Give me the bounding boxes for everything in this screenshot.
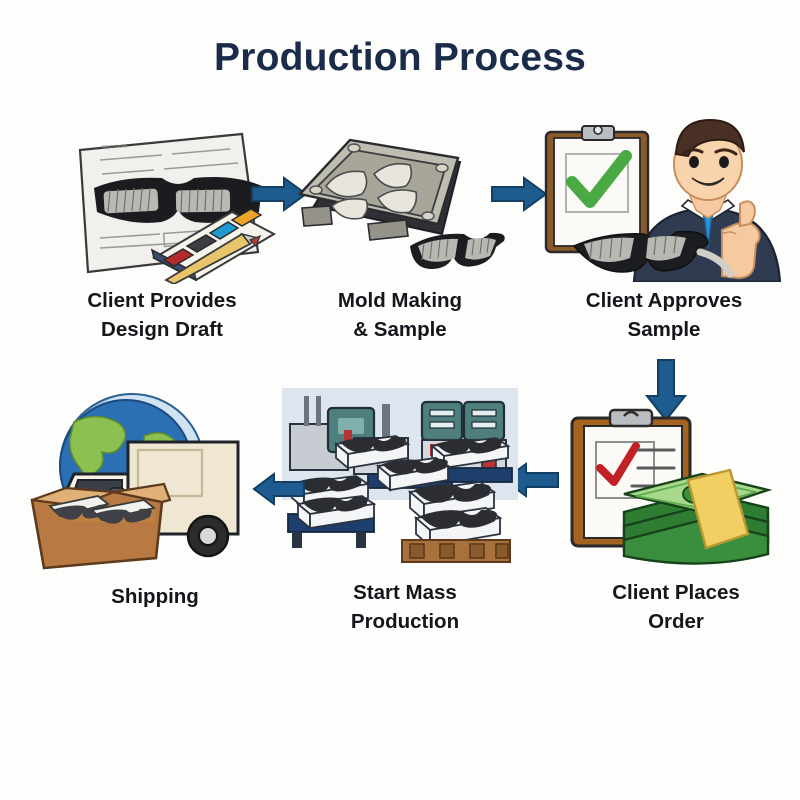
step-1-label-line1: Client Provides — [48, 286, 276, 315]
step-3-illustration — [530, 106, 792, 282]
step-4-illustration — [562, 408, 792, 568]
step-3-label-line1: Client Approves — [552, 286, 776, 315]
step-3-label: Client Approves Sample — [552, 286, 776, 344]
open-cardboard-box — [32, 484, 170, 568]
step-1-label-line2: Design Draft — [48, 315, 276, 344]
step-3-label-line2: Sample — [552, 315, 776, 344]
metal-mold-block — [300, 140, 460, 240]
step-6-label: Shipping — [52, 582, 258, 611]
step-5-label-line2: Production — [300, 607, 510, 636]
step-2-label-line1: Mold Making — [300, 286, 500, 315]
wooden-pallet — [402, 540, 510, 562]
step-4-label: Client Places Order — [570, 578, 782, 636]
page-title: Production Process — [0, 36, 800, 80]
step-1-illustration: spec sheet — [42, 112, 282, 284]
step-4-label-line1: Client Places — [570, 578, 782, 607]
step-5-label: Start Mass Production — [300, 578, 510, 636]
step-2-label: Mold Making & Sample — [300, 286, 500, 344]
step-5-illustration — [282, 388, 518, 568]
step-2-illustration — [292, 128, 512, 280]
step-2-label-line2: & Sample — [300, 315, 500, 344]
step-4-label-line2: Order — [570, 607, 782, 636]
production-process-diagram: Production Process spec sheet — [0, 0, 800, 800]
sample-sunglasses — [410, 233, 505, 269]
step-1-label: Client Provides Design Draft — [48, 286, 276, 344]
step-5-label-line1: Start Mass — [300, 578, 510, 607]
step-6-illustration — [22, 392, 268, 572]
svg-text:spec sheet: spec sheet — [102, 144, 127, 150]
step-6-label-line1: Shipping — [52, 582, 258, 611]
